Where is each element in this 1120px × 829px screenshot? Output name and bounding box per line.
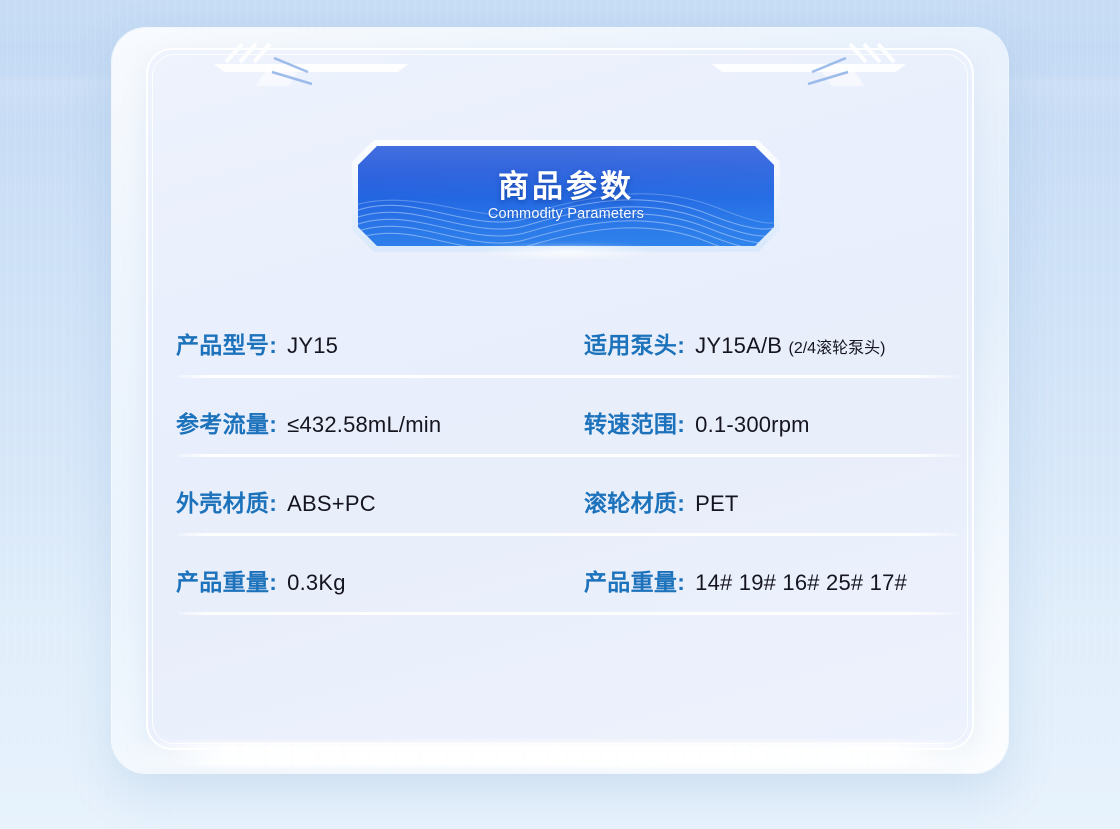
- param-value: 14# 19# 16# 25# 17#: [695, 570, 907, 596]
- parameter-table: 产品型号: JY15 适用泵头: JY15A/B (2/4滚轮泵头) 参考流量:…: [176, 326, 960, 615]
- banner-text-block: 商品参数 Commodity Parameters: [358, 146, 774, 246]
- param-value: 0.3Kg: [287, 570, 346, 596]
- param-cell-speed-range: 转速范围: 0.1-300rpm: [584, 405, 960, 439]
- banner-title-en: Commodity Parameters: [488, 206, 644, 222]
- param-label: 产品重量:: [176, 563, 277, 597]
- param-value: JY15: [287, 333, 338, 359]
- table-row: 参考流量: ≤432.58mL/min 转速范围: 0.1-300rpm: [176, 405, 960, 457]
- param-label: 转速范围:: [584, 405, 685, 439]
- param-value: JY15A/B (2/4滚轮泵头): [695, 333, 885, 359]
- param-cell-product-weight: 产品重量: 0.3Kg: [176, 563, 584, 597]
- param-label: 适用泵头:: [584, 326, 685, 360]
- table-row: 产品重量: 0.3Kg 产品重量: 14# 19# 16# 25# 17#: [176, 563, 960, 615]
- product-parameters-page: 商品参数 Commodity Parameters 产品型号: JY15 适用泵…: [0, 0, 1120, 829]
- param-value: PET: [695, 491, 738, 517]
- param-value: ≤432.58mL/min: [287, 412, 441, 438]
- param-label: 外壳材质:: [176, 484, 277, 518]
- section-title-banner: 商品参数 Commodity Parameters: [352, 140, 780, 252]
- param-cell-roller-material: 滚轮材质: PET: [584, 484, 960, 518]
- param-value: 0.1-300rpm: [695, 412, 810, 438]
- param-cell-tube-sizes: 产品重量: 14# 19# 16# 25# 17#: [584, 563, 960, 597]
- param-label: 产品型号:: [176, 326, 277, 360]
- param-value-note: (2/4滚轮泵头): [789, 340, 886, 357]
- param-cell-shell-material: 外壳材质: ABS+PC: [176, 484, 584, 518]
- param-cell-reference-flow: 参考流量: ≤432.58mL/min: [176, 405, 584, 439]
- param-cell-product-model: 产品型号: JY15: [176, 326, 584, 360]
- banner-base-glow: [472, 244, 662, 260]
- param-label: 产品重量:: [584, 563, 685, 597]
- param-label: 参考流量:: [176, 405, 277, 439]
- param-cell-pump-head: 适用泵头: JY15A/B (2/4滚轮泵头): [584, 326, 960, 360]
- param-value: ABS+PC: [287, 491, 376, 517]
- table-row: 产品型号: JY15 适用泵头: JY15A/B (2/4滚轮泵头): [176, 326, 960, 378]
- banner-body: 商品参数 Commodity Parameters: [358, 146, 774, 246]
- param-label: 滚轮材质:: [584, 484, 685, 518]
- table-row: 外壳材质: ABS+PC 滚轮材质: PET: [176, 484, 960, 536]
- banner-title-cn: 商品参数: [498, 170, 634, 205]
